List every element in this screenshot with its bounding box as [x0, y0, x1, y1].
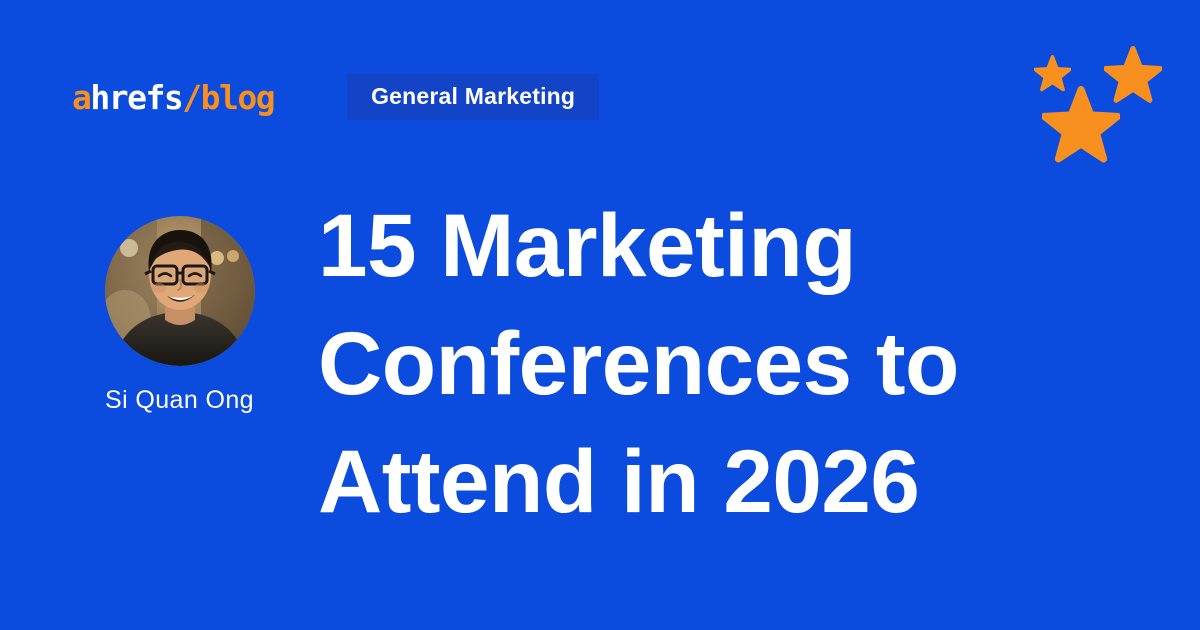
title-line-2: Conferences to	[318, 304, 1118, 422]
category-badge[interactable]: General Marketing	[347, 74, 599, 120]
avatar-photo	[105, 216, 255, 366]
avatar	[105, 216, 255, 366]
card-header: ahrefs/blog General Marketing	[72, 74, 599, 120]
logo-letter-a: a	[72, 81, 90, 114]
title-line-1: 15 Marketing	[318, 186, 1118, 304]
logo-word-hrefs: hrefs	[90, 81, 182, 114]
page-title: 15 Marketing Conferences to Attend in 20…	[318, 186, 1118, 540]
logo-word-blog: blog	[201, 81, 274, 114]
author-block: Si Quan Ong	[97, 216, 262, 415]
title-line-3: Attend in 2026	[318, 422, 1118, 540]
author-name: Si Quan Ong	[97, 387, 262, 415]
star-icon-large	[1042, 86, 1120, 164]
ahrefs-blog-logo[interactable]: ahrefs/blog	[72, 81, 274, 114]
star-decoration-group	[1026, 38, 1176, 168]
logo-slash: /	[182, 81, 200, 114]
social-share-card: ahrefs/blog General Marketing	[0, 0, 1200, 630]
